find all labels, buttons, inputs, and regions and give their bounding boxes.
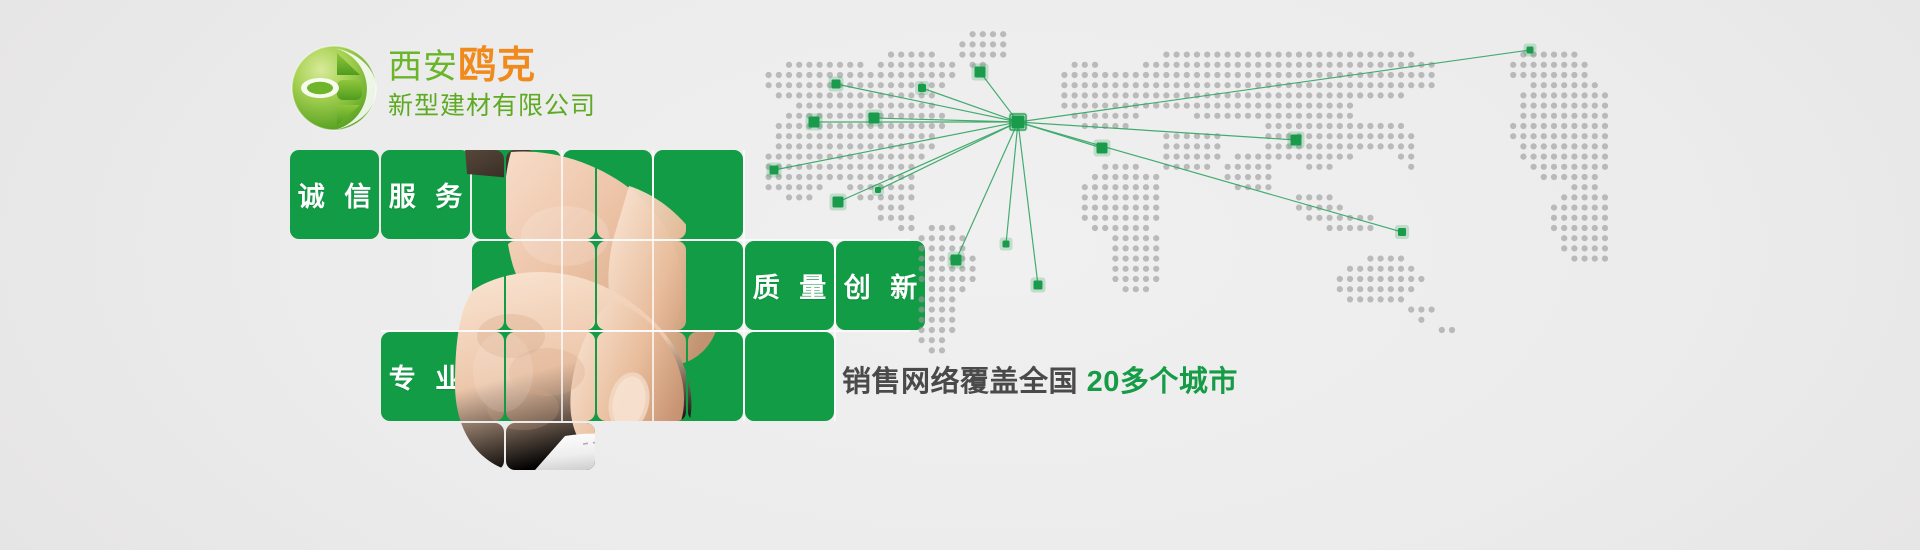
logo-line-2: 新型建材有限公司 xyxy=(388,89,596,123)
tile-blank-r1c4 xyxy=(563,150,652,239)
tagline-prefix: 销售网络覆盖全国 xyxy=(842,366,1078,398)
tile-blank-r3c3 xyxy=(472,332,561,421)
tile-blank-r2c4 xyxy=(563,241,652,330)
dotted-world-map-icon xyxy=(730,10,1610,370)
sales-network-tagline: 销售网络覆盖全国 20多个城市 xyxy=(842,358,1238,400)
tagline-highlight: 20多个城市 xyxy=(1087,366,1238,398)
tile-blank-r3c4 xyxy=(563,332,652,421)
logo-wordmark: 西安鸥克 新型建材有限公司 xyxy=(388,46,596,123)
logo-line-1: 西安鸥克 xyxy=(388,46,596,87)
globe-leaf-logo-icon xyxy=(290,44,378,132)
tile-blank-r1c3 xyxy=(472,150,561,239)
tile-professional[interactable]: 专 业 xyxy=(381,332,470,421)
tile-service[interactable]: 服 务 xyxy=(381,150,470,239)
tile-integrity[interactable]: 诚 信 xyxy=(290,150,379,239)
logo-brand-text: 鸥克 xyxy=(458,45,536,87)
logo-city-text: 西安 xyxy=(388,48,458,86)
company-logo[interactable]: 西安鸥克 新型建材有限公司 xyxy=(290,42,710,138)
tile-blank-r2c3 xyxy=(472,241,561,330)
promo-banner: 西安鸥克 新型建材有限公司 诚 信 服 务 质 量 创 新 专 业 xyxy=(0,0,1920,550)
